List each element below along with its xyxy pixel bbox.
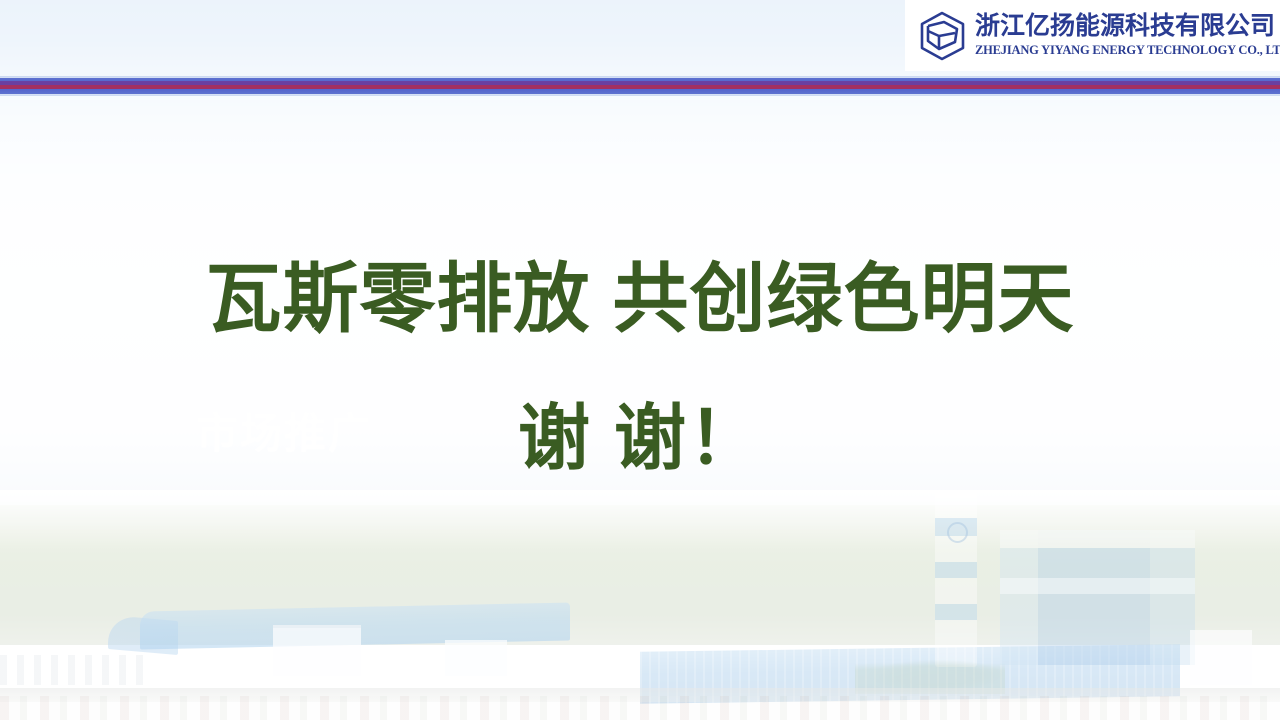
foreground-yard [0,696,1280,720]
logo-text-block: 浙江亿扬能源科技有限公司 ZHEJIANG YIYANG ENERGY TECH… [975,13,1280,57]
office-building-a [273,625,361,676]
company-name-cn: 浙江亿扬能源科技有限公司 [975,13,1280,39]
office-building-c [1190,630,1252,685]
slide-thanks: 谢 谢！ [0,400,1280,479]
presentation-slide: 浙江亿扬能源科技有限公司 ZHEJIANG YIYANG ENERGY TECH… [0,0,1280,720]
company-logo-panel: 浙江亿扬能源科技有限公司 ZHEJIANG YIYANG ENERGY TECH… [905,0,1280,71]
office-building-b [445,640,507,676]
stack-logo-icon [947,522,968,543]
slide-headline: 瓦斯零排放 共创绿色明天 [0,258,1280,342]
plant-building-block [1000,530,1195,665]
hexagon-crystal-icon [913,7,971,65]
background-photo [0,0,1280,720]
header-stripe-band [0,78,1280,94]
striped-stack-tower [935,492,977,667]
stripe-glow [0,76,1280,96]
plant-building-band [1000,578,1195,594]
equipment-row [0,655,150,685]
company-name-en: ZHEJIANG YIYANG ENERGY TECHNOLOGY CO., L… [975,43,1280,58]
